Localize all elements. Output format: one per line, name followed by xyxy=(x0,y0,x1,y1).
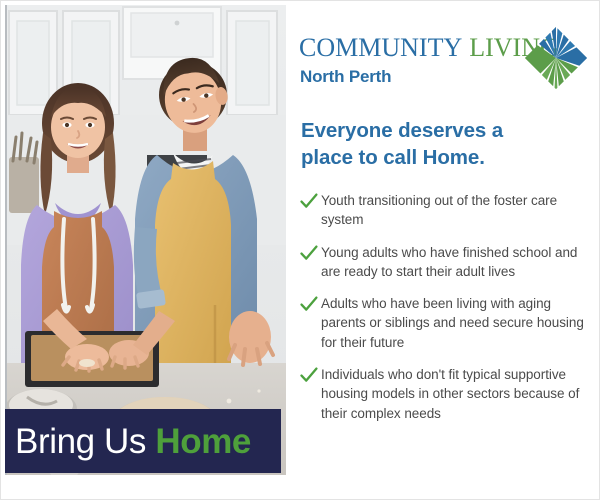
bring-us-home-banner: Bring Us Home xyxy=(5,409,281,473)
list-item-label: Young adults who have finished school an… xyxy=(321,243,587,282)
headline-line-2: place to call Home. xyxy=(301,146,485,169)
kitchen-baking-photo xyxy=(7,5,286,475)
logo-wordmark: COMMUNITYLIVING xyxy=(299,35,559,61)
list-item-label: Youth transitioning out of the foster ca… xyxy=(321,191,587,230)
list-item: Youth transitioning out of the foster ca… xyxy=(299,191,587,230)
logo-subtitle: North Perth xyxy=(300,67,391,87)
check-icon xyxy=(299,366,319,384)
check-icon xyxy=(299,244,319,262)
check-icon xyxy=(299,192,319,210)
headline-line-1: Everyone deserves a xyxy=(301,119,503,142)
list-item-label: Adults who have been living with aging p… xyxy=(321,294,587,352)
photo-panel xyxy=(5,5,286,475)
content-panel: COMMUNITYLIVING North Perth xyxy=(289,5,597,497)
list-item: Young adults who have finished school an… xyxy=(299,243,587,282)
list-item: Individuals who don't fit typical suppor… xyxy=(299,365,587,423)
community-living-north-perth-logo: COMMUNITYLIVING North Perth xyxy=(299,27,591,97)
list-item-label: Individuals who don't fit typical suppor… xyxy=(321,365,587,423)
banner-word-bring-us: Bring Us xyxy=(15,422,146,461)
page-title: Everyone deserves a place to call Home. xyxy=(301,117,581,171)
check-icon xyxy=(299,295,319,313)
eligibility-list: Youth transitioning out of the foster ca… xyxy=(299,191,587,436)
list-item: Adults who have been living with aging p… xyxy=(299,294,587,352)
banner-text: Bring Us Home xyxy=(15,424,251,459)
banner-word-home: Home xyxy=(155,422,251,461)
logo-word-community: COMMUNITY xyxy=(299,33,462,62)
poster-root: Bring Us Home COMMUNITYLIVING North Pert… xyxy=(0,0,600,500)
sunburst-diamond-logo-mark xyxy=(525,27,587,89)
